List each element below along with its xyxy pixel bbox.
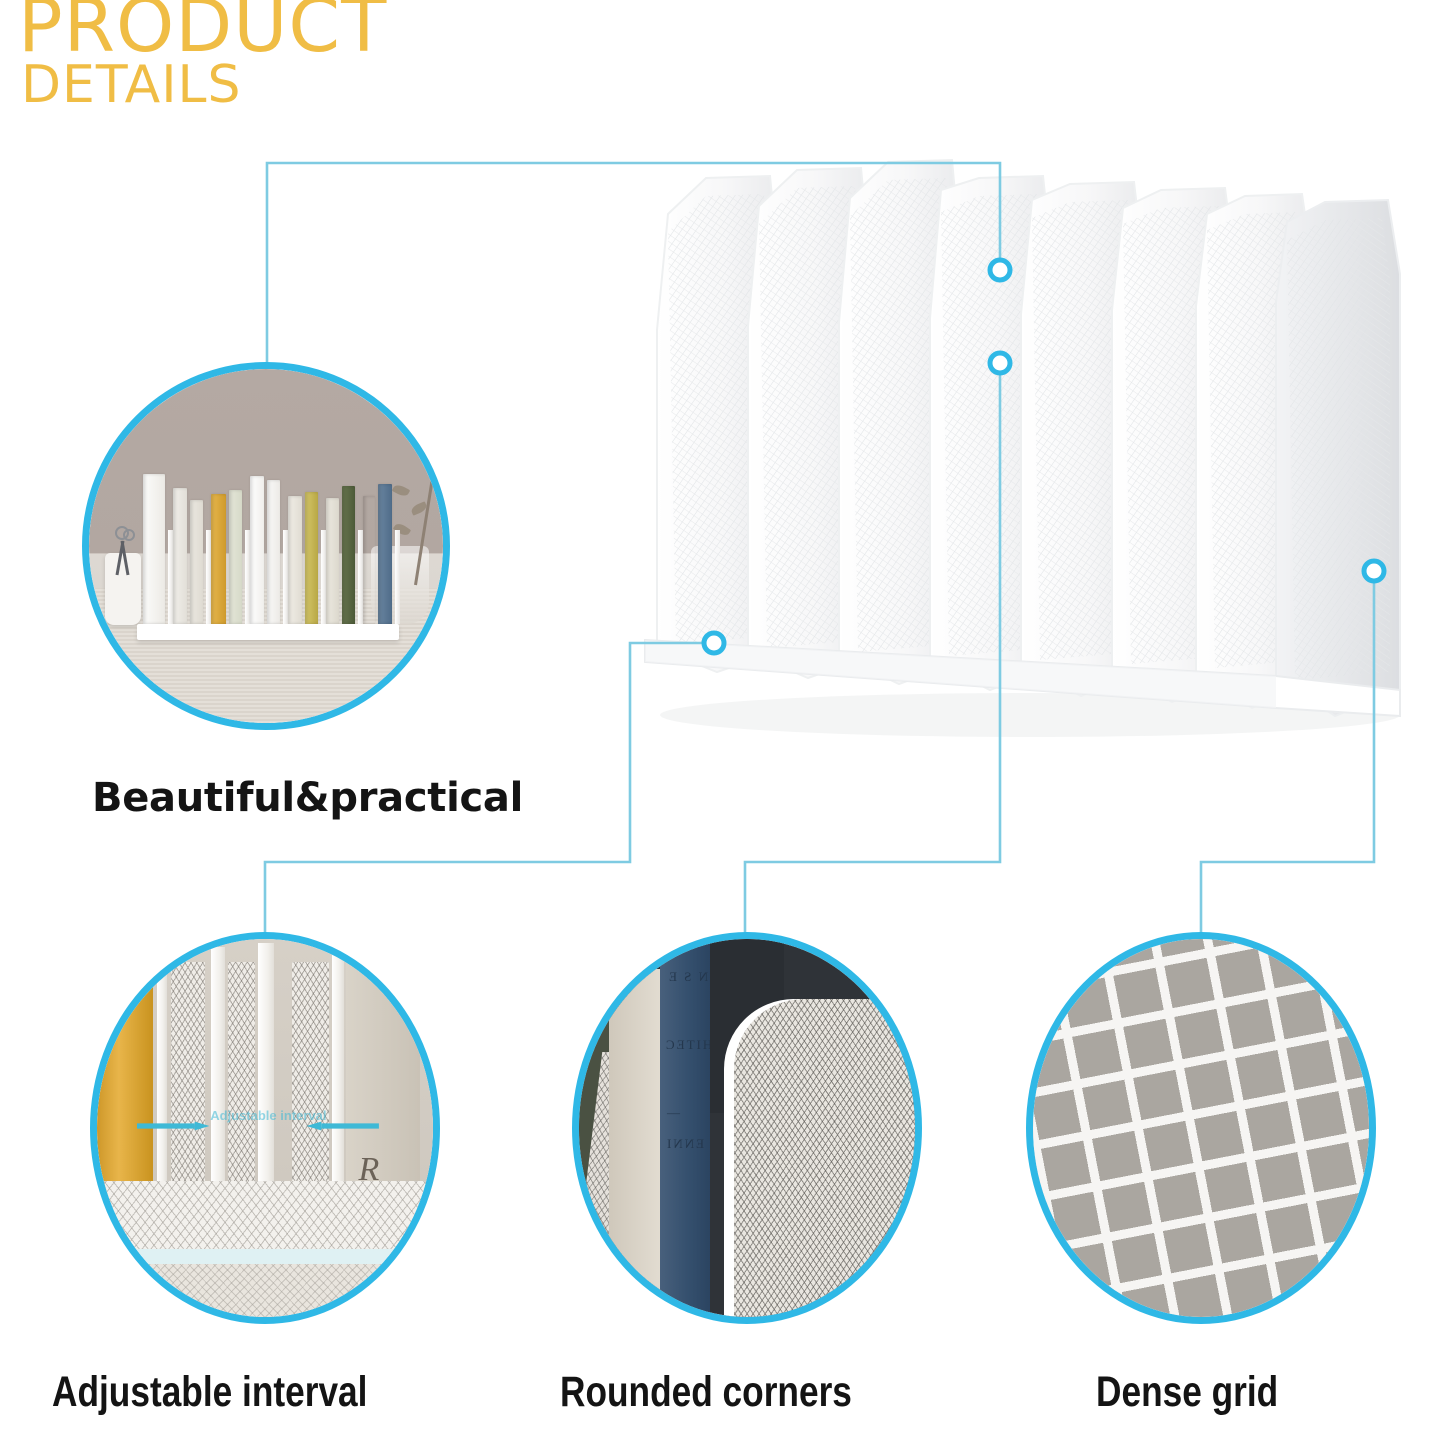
caption-adjustable-interval: Adjustable interval xyxy=(52,1368,367,1417)
adjustable-rail xyxy=(117,1249,413,1265)
hero-base-tray xyxy=(645,640,1400,716)
connector-beautiful xyxy=(267,163,1000,366)
connector-corners xyxy=(745,363,1000,938)
hero-markers xyxy=(704,260,1384,653)
caption-dense-grid: Dense grid xyxy=(1096,1368,1278,1417)
marker-top-icon xyxy=(990,260,1010,280)
marker-mid-icon xyxy=(990,353,1010,373)
gold-book xyxy=(97,977,153,1196)
callout-adjustable-interval[interactable]: Adjustable interval R xyxy=(90,932,440,1324)
page-title-line2: DETAILS xyxy=(21,62,387,110)
callout-dense-grid[interactable] xyxy=(1026,932,1376,1324)
linen-book xyxy=(609,969,663,1317)
scissors-icon xyxy=(111,521,135,581)
callout-rounded-corners[interactable]: N S E HITEC — ENNI xyxy=(572,932,922,1324)
book-row xyxy=(143,454,391,624)
callout-corners-image: N S E HITEC — ENNI xyxy=(579,939,915,1317)
marker-right-icon xyxy=(1364,561,1384,581)
script-letter-r: R xyxy=(358,1151,379,1189)
marker-base-icon xyxy=(704,633,724,653)
callout-interval-image: Adjustable interval R xyxy=(97,939,433,1317)
caption-beautiful-practical: Beautiful&practical xyxy=(92,775,523,821)
page-title-line1: PRODUCT xyxy=(18,0,387,60)
interval-annotation: Adjustable interval xyxy=(198,1109,339,1123)
mesh-panel-rounded-corner xyxy=(734,999,915,1317)
navy-book: N S E HITEC — ENNI xyxy=(660,939,710,1317)
hero-divider-group xyxy=(657,160,1400,716)
dense-grid-pattern xyxy=(1033,939,1369,1317)
page-title: PRODUCT DETAILS xyxy=(18,0,387,110)
caption-rounded-corners: Rounded corners xyxy=(560,1368,852,1417)
callout-beautiful-image xyxy=(89,369,443,723)
product-details-infographic: PRODUCT DETAILS xyxy=(0,0,1445,1432)
connector-grid xyxy=(1201,571,1374,938)
callout-grid-image xyxy=(1033,939,1369,1317)
callout-beautiful-practical[interactable] xyxy=(82,362,450,730)
